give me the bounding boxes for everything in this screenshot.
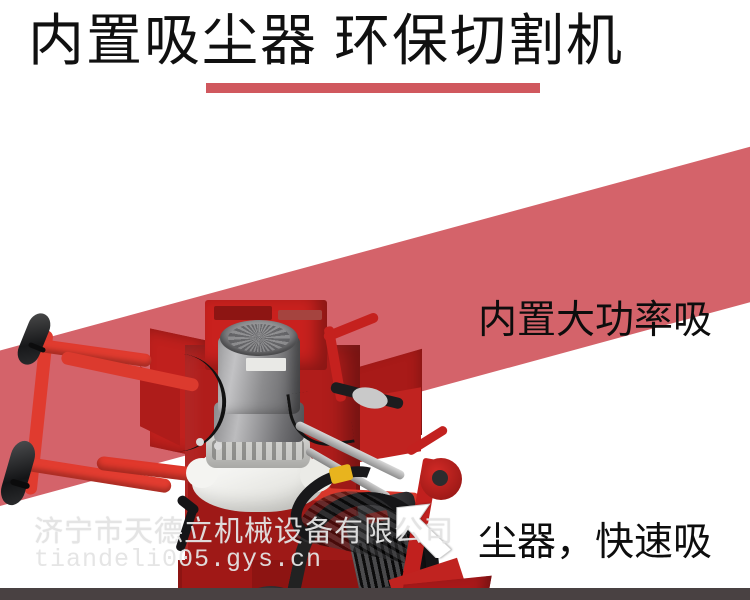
panel-bolt-2: [214, 442, 222, 450]
watermark-company: 济宁市天德立机械设备有限公司: [34, 508, 454, 550]
vacuum-motor-label: [246, 358, 286, 371]
machine-top-lid-2: [278, 310, 322, 320]
watermark-url: tiandeli005.gys.cn: [34, 545, 322, 574]
feature-copy: 内置大功率吸 尘器，快速吸 收切割灰尘， 实现无尘作业: [478, 136, 750, 600]
bottom-bar: [0, 588, 750, 600]
depth-adjust-knob-center: [432, 470, 448, 486]
headline-underline: [206, 83, 540, 93]
panel-bolt-1: [196, 438, 204, 446]
product-image: [0, 140, 470, 560]
feature-copy-line-1: 内置大功率吸: [478, 284, 750, 358]
page-title: 内置吸尘器 环保切割机: [28, 6, 624, 78]
feature-copy-line-2: 尘器，快速吸: [478, 506, 750, 580]
vacuum-base-vents: [212, 440, 304, 460]
banner-canvas: 内置吸尘器 环保切割机: [0, 0, 750, 600]
vacuum-fan-blades: [228, 324, 290, 352]
machine-top-lid: [214, 306, 272, 320]
